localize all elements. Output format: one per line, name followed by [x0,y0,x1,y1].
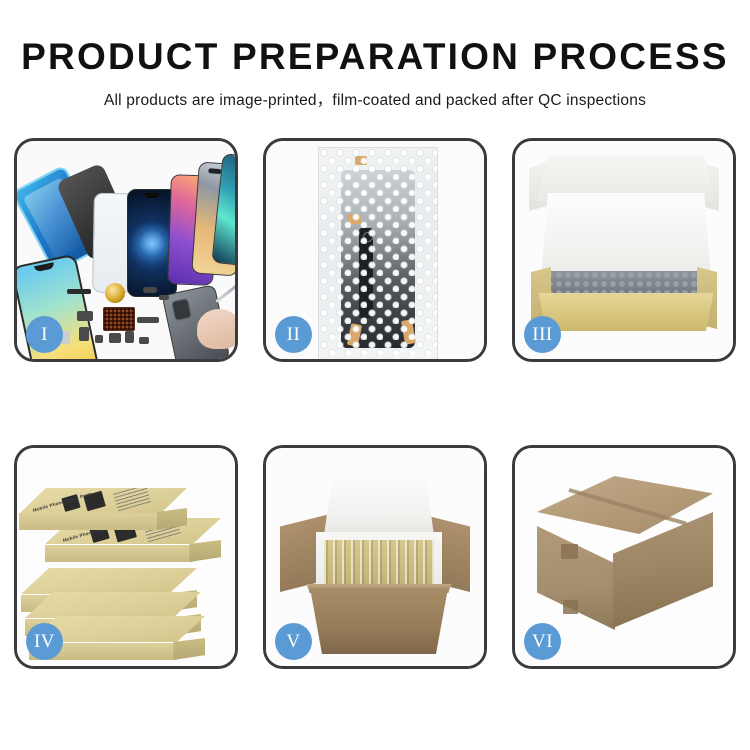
speaker-part-icon [79,327,89,341]
step-badge-4: IV [26,623,63,660]
box-label-specs [113,485,151,512]
step-badge-6: VI [524,623,561,660]
foam-sheet [541,193,711,277]
box-side-face [173,638,205,660]
technician-hand-icon [197,309,235,349]
box-front-face [45,545,193,562]
carton-left-face [537,526,615,630]
box-side-face [189,540,221,562]
process-step-grid: I II [14,138,736,669]
box-top-face [25,592,201,618]
page-header: PRODUCT PREPARATION PROCESS All products… [0,0,750,110]
box-front-panel [535,293,717,331]
process-step-card-4: Mobile Phone Spare Parts Mobile Phone Sp… [14,445,238,669]
step-badge-2: II [275,316,312,353]
battery-part-icon [67,289,91,294]
process-step-card-6: VI [512,445,736,669]
screw-part-icon [95,335,103,343]
bubble-texture [319,148,437,359]
box-front-face [19,513,160,530]
flex-cable-icon [143,287,157,293]
bubble-wrap-bag [318,147,438,359]
step-badge-5: V [275,623,312,660]
carton-body [304,588,454,654]
process-step-card-2: II [263,138,487,362]
chip-board-icon [103,307,135,331]
page-title: PRODUCT PREPARATION PROCESS [0,38,750,77]
foam-lid [324,470,434,536]
ribbon-cable-icon [137,317,159,323]
page-subtitle: All products are image-printed，film-coat… [0,88,750,110]
tweezers-icon [215,282,235,303]
gold-coil-part-icon [105,283,125,303]
retail-box-labeled-1: Mobile Phone Spare Parts [19,488,187,530]
button-part-icon [125,331,134,343]
camera-module-icon [77,311,93,321]
box-top-face [21,568,197,594]
sim-tray-icon [139,337,149,344]
box-top-face: Mobile Phone Spare Parts [19,488,187,514]
carton-tape-upper [561,544,578,559]
process-step-card-5: V [263,445,487,669]
vibrator-part-icon [109,333,121,343]
packed-retail-boxes [324,540,434,587]
connector-icon [159,295,169,300]
step-badge-1: I [26,316,63,353]
step-badge-3: III [524,316,561,353]
product-preparation-infographic: PRODUCT PREPARATION PROCESS All products… [0,0,750,750]
box-label-text-1: Mobile Phone Spare Parts [32,491,92,513]
carton-tape-lower [563,600,578,614]
process-step-card-1: I [14,138,238,362]
process-step-card-3: III [512,138,736,362]
